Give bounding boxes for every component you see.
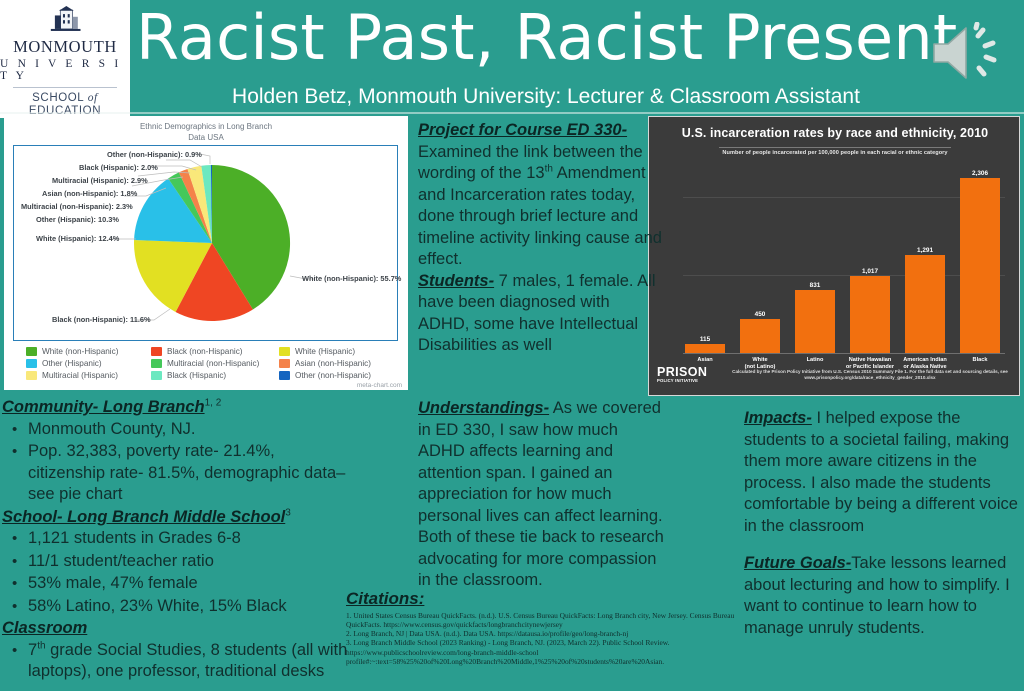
impacts-block: Impacts- I helped expose the students to… (744, 408, 1020, 537)
school-word: SCHOOL (32, 92, 84, 104)
project-heading: Project for Course ED 330- (418, 121, 627, 139)
legend-label: Other (Hispanic) (42, 359, 102, 368)
poster-header: MONMOUTH U N I V E R S I T Y SCHOOL of E… (0, 0, 1024, 113)
legend-row: Multiracial (Hispanic) Black (Hispanic) … (26, 371, 398, 380)
bar-chart-subtitle: Number of people incarcerated per 100,00… (649, 150, 1021, 156)
community-heading-row: Community- Long Branch1, 2 (2, 397, 354, 419)
classroom-heading-row: Classroom (2, 618, 354, 640)
bar-cat-black: Black (954, 357, 1006, 364)
legend-item-asian-nonhispanic: Asian (non-Hispanic) (279, 359, 371, 368)
bar-latino (795, 290, 835, 353)
classroom-item-text: grade Social Studies, 8 students (all wi… (28, 641, 347, 681)
header-divider (0, 112, 1024, 114)
logo-subname: U N I V E R S I T Y (0, 58, 130, 82)
list-item: 53% male, 47% female (28, 573, 354, 595)
project-text-sup: th (545, 164, 553, 175)
understandings-heading: Understandings- (418, 399, 549, 417)
legend-item-other-hispanic: Other (Hispanic) (26, 359, 151, 368)
pie-chart-legend: White (non-Hispanic) Black (non-Hispanic… (26, 347, 398, 383)
gridline (683, 197, 1005, 198)
pie-label-other-hispanic: Other (Hispanic): 10.3% (36, 215, 119, 224)
pie-callout-labels: Other (non-Hispanic): 0.9% Black (Hispan… (14, 146, 396, 339)
bar-value-native-hawaiian: 1,017 (850, 268, 890, 275)
legend-label: Black (Hispanic) (167, 371, 226, 380)
pie-chart-plot-area: Other (non-Hispanic): 0.9% Black (Hispan… (13, 145, 398, 341)
pie-title-line1: Ethnic Demographics in Long Branch (140, 122, 272, 131)
bar-native-hawaiian (850, 276, 890, 353)
understandings-text: As we covered in ED 330, I saw how much … (418, 399, 664, 589)
legend-swatch (151, 347, 162, 356)
of-word: of (88, 92, 98, 104)
project-and-students-section: Project for Course ED 330- Examined the … (418, 120, 662, 357)
legend-item-black-nonhispanic: Black (non-Hispanic) (151, 347, 279, 356)
community-list: Monmouth County, NJ. Pop. 32,383, povert… (2, 419, 354, 506)
legend-swatch (151, 359, 162, 368)
school-heading-row: School- Long Branch Middle School3 (2, 507, 354, 529)
community-school-classroom-section: Community- Long Branch1, 2 Monmouth Coun… (2, 397, 354, 684)
ppi-brand-main: PRISON (657, 366, 707, 378)
legend-row: Other (Hispanic) Multiracial (non-Hispan… (26, 359, 398, 368)
legend-item-black-hispanic: Black (Hispanic) (151, 371, 279, 380)
pie-chart-title: Ethnic Demographics in Long Branch Data … (4, 116, 408, 143)
citations-title: Citations: (346, 588, 746, 610)
pie-label-white-hispanic: White (Hispanic): 12.4% (36, 234, 119, 243)
list-item: 11/1 student/teacher ratio (28, 551, 354, 573)
bar-value-american-indian: 1,291 (905, 247, 945, 254)
pie-label-multiracial-nonhispanic: Multiracial (non-Hispanic): 2.3% (21, 202, 133, 211)
logo-divider (13, 87, 117, 88)
bar-value-asian: 115 (685, 336, 725, 343)
legend-swatch (279, 359, 290, 368)
legend-item-multiracial-nonhispanic: Multiracial (non-Hispanic) (151, 359, 279, 368)
project-block: Project for Course ED 330- Examined the … (418, 120, 662, 271)
legend-row: White (non-Hispanic) Black (non-Hispanic… (26, 347, 398, 356)
impacts-text: I helped expose the students to a societ… (744, 409, 1018, 535)
bar-chart-card: U.S. incarceration rates by race and eth… (648, 116, 1020, 396)
bar-chart-title: U.S. incarceration rates by race and eth… (649, 126, 1021, 140)
legend-label: Black (non-Hispanic) (167, 347, 243, 356)
students-block: Students- 7 males, 1 female. All have be… (418, 271, 662, 357)
pie-label-black-nonhispanic: Black (non-Hispanic): 11.6% (52, 315, 151, 324)
bar-asian (685, 344, 725, 353)
monmouth-university-logo: MONMOUTH U N I V E R S I T Y SCHOOL of E… (0, 0, 130, 118)
legend-item-white-hispanic: White (Hispanic) (279, 347, 355, 356)
legend-swatch (151, 371, 162, 380)
bar-value-black: 2,306 (960, 170, 1000, 177)
impacts-heading: Impacts- (744, 409, 812, 427)
classroom-grade-num: 7 (28, 641, 37, 659)
bar-chart-axis (683, 353, 1005, 354)
legend-item-other-nonhispanic: Other (non-Hispanic) (279, 371, 371, 380)
citation-entry: 3. Long Branch Middle School (2023 Ranki… (346, 638, 746, 666)
bar-black (960, 178, 1000, 353)
legend-swatch (279, 347, 290, 356)
students-heading: Students- (418, 272, 494, 290)
school-list: 1,121 students in Grades 6-8 11/1 studen… (2, 528, 354, 617)
bar-value-white: 450 (740, 311, 780, 318)
chart-watermark: meta-chart.com (357, 382, 402, 389)
legend-swatch (279, 371, 290, 380)
pie-chart-card: Ethnic Demographics in Long Branch Data … (4, 116, 408, 390)
page-subtitle: Holden Betz, Monmouth University: Lectur… (136, 82, 956, 112)
understandings-block: Understandings- As we covered in ED 330,… (418, 398, 666, 592)
logo-name: MONMOUTH (13, 37, 117, 57)
pie-label-asian-nonhispanic: Asian (non-Hispanic): 1.8% (42, 189, 137, 198)
university-building-icon (38, 6, 92, 34)
community-citation-sup: 1, 2 (205, 398, 222, 409)
bar-chart-plot-area: 115 450 831 1,017 1,291 2,306 (683, 163, 1005, 353)
understandings-section: Understandings- As we covered in ED 330,… (418, 398, 666, 592)
page-title: Racist Past, Racist Present (136, 0, 926, 80)
legend-swatch (26, 371, 37, 380)
list-item: 1,121 students in Grades 6-8 (28, 528, 354, 550)
prison-policy-initiative-logo: PRISON POLICY INITIATIVE (657, 366, 707, 383)
classroom-list: 7th grade Social Studies, 8 students (al… (2, 640, 354, 683)
school-citation-sup: 3 (285, 507, 291, 518)
bar-cat-latino: Latino (789, 357, 841, 364)
pie-label-multiracial-hispanic: Multiracial (Hispanic): 2.9% (52, 176, 148, 185)
impacts-and-goals-section: Impacts- I helped expose the students to… (744, 408, 1020, 639)
bar-white (740, 319, 780, 353)
legend-label: Other (non-Hispanic) (295, 371, 371, 380)
speaker-sound-icon[interactable] (930, 22, 1010, 84)
legend-swatch (26, 359, 37, 368)
gridline (683, 275, 1005, 276)
classroom-grade-sup: th (37, 640, 45, 651)
legend-label: White (Hispanic) (295, 347, 355, 356)
legend-item-multiracial-hispanic: Multiracial (Hispanic) (26, 371, 151, 380)
bar-chart-footnote: Calculated by the Prison Policy Initiati… (727, 369, 1013, 381)
pie-label-black-hispanic: Black (Hispanic): 2.0% (79, 163, 158, 172)
legend-label: Multiracial (non-Hispanic) (167, 359, 259, 368)
pie-label-other-nonhispanic: Other (non-Hispanic): 0.9% (107, 150, 202, 159)
bar-cat-asian: Asian (679, 357, 731, 364)
logo-school-of-education: SCHOOL of EDUCATION (29, 92, 101, 118)
bar-american-indian (905, 255, 945, 353)
legend-item-white-nonhispanic: White (non-Hispanic) (26, 347, 151, 356)
bar-value-latino: 831 (795, 282, 835, 289)
legend-label: Asian (non-Hispanic) (295, 359, 371, 368)
pie-title-line2: Data USA (188, 133, 224, 142)
list-item: 7th grade Social Studies, 8 students (al… (28, 640, 354, 683)
legend-label: Multiracial (Hispanic) (42, 371, 118, 380)
pie-label-white-nonhispanic: White (non-Hispanic): 55.7% (302, 274, 401, 283)
future-goals-block: Future Goals-Take lessons learned about … (744, 553, 1020, 639)
list-item: Monmouth County, NJ. (28, 419, 354, 441)
community-heading: Community- Long Branch (2, 398, 205, 416)
bar-title-divider (719, 147, 951, 148)
legend-swatch (26, 347, 37, 356)
citations-section: Citations: 1. United States Census Burea… (346, 588, 746, 666)
legend-label: White (non-Hispanic) (42, 347, 118, 356)
citation-entry: 2. Long Branch, NJ | Data USA. (n.d.). D… (346, 629, 746, 638)
school-heading: School- Long Branch Middle School (2, 508, 285, 526)
list-item: 58% Latino, 23% White, 15% Black (28, 596, 354, 618)
list-item: Pop. 32,383, poverty rate- 21.4%, citize… (28, 441, 354, 506)
future-goals-heading: Future Goals- (744, 554, 851, 572)
classroom-heading: Classroom (2, 619, 87, 637)
citation-entry: 1. United States Census Bureau QuickFact… (346, 611, 746, 630)
